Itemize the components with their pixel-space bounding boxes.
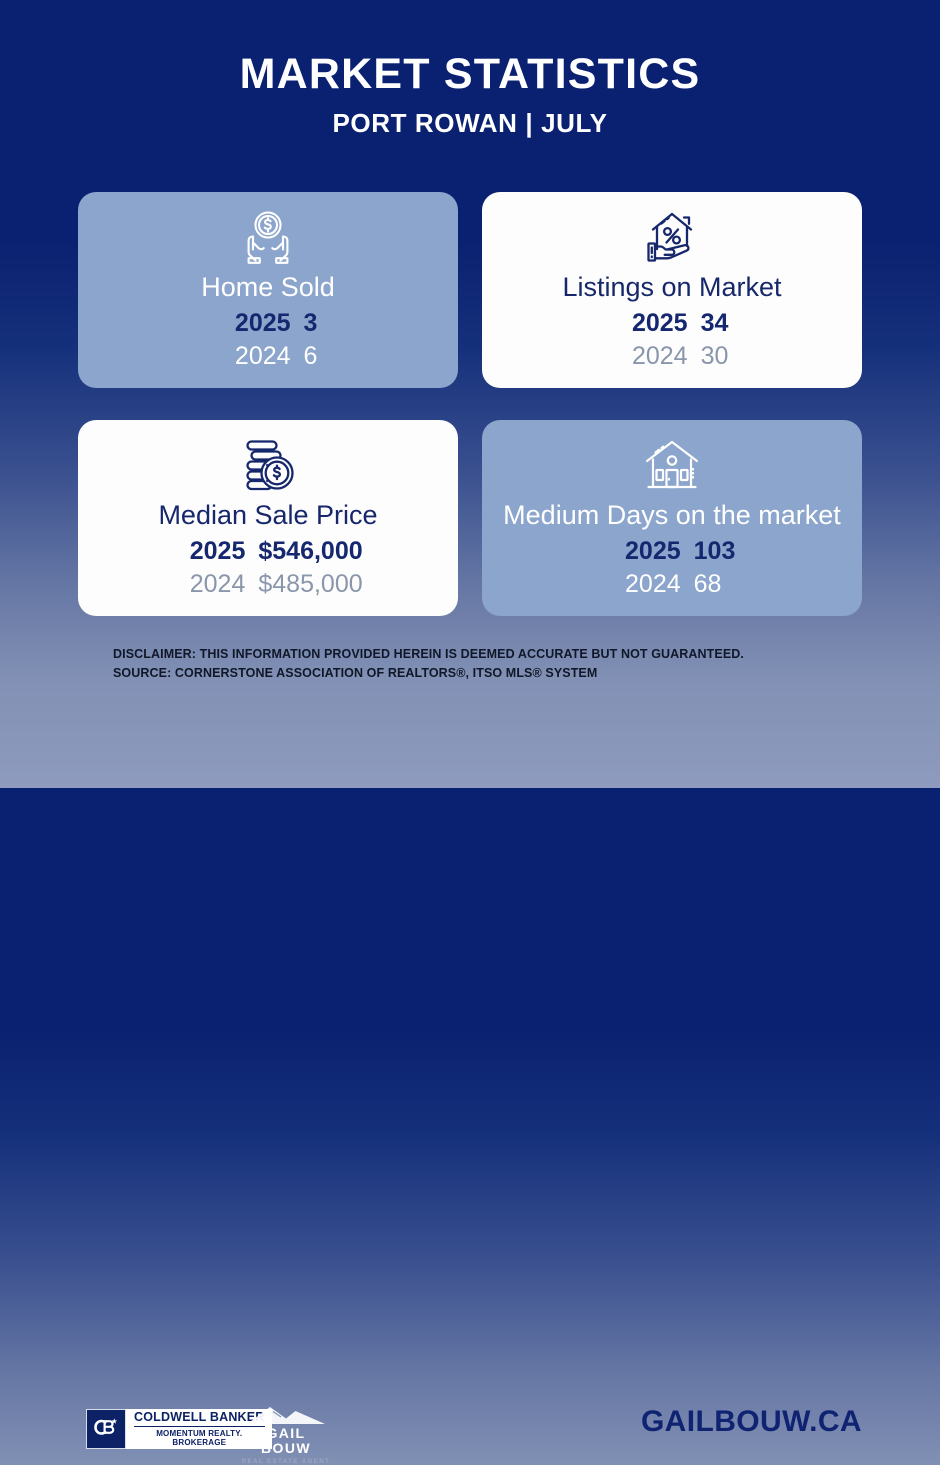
stat-card-title: Listings on Market: [562, 272, 781, 303]
stat-values: 2025 34 2024 30: [616, 307, 729, 373]
stat-year-previous: 2024: [219, 340, 291, 373]
stat-values: 2025 103 2024 68: [609, 535, 736, 601]
brokerage-subline: MOMENTUM REALTY. BROKERAGE: [156, 1429, 242, 1448]
mountain-icon: [240, 1405, 332, 1425]
stat-year-current: 2025: [616, 307, 688, 340]
coin-stack-icon: [239, 434, 297, 496]
page-title: MARKET STATISTICS: [0, 52, 940, 97]
stat-row-current: 2025 34: [616, 307, 729, 340]
disclaimer: DISCLAIMER: THIS INFORMATION PROVIDED HE…: [113, 645, 873, 684]
stat-year-current: 2025: [173, 535, 245, 568]
agent-name: GAIL BOUW: [240, 1426, 332, 1457]
house-percent-hand-icon: [642, 206, 702, 268]
stat-value-previous: 68: [694, 568, 722, 601]
stat-row-previous: 2024 $485,000: [173, 568, 362, 601]
website-url[interactable]: GAILBOUW.CA: [641, 1405, 862, 1439]
stat-card-title: Home Sold: [201, 272, 335, 303]
stat-values: 2025 $546,000 2024 $485,000: [173, 535, 362, 601]
stat-year-current: 2025: [609, 535, 681, 568]
stat-card-title: Median Sale Price: [158, 500, 377, 531]
statistics-grid: Home Sold 2025 3 2024 6: [78, 192, 862, 616]
agent-tagline: REAL ESTATE AGENT: [240, 1459, 332, 1465]
stat-row-previous: 2024 68: [609, 568, 736, 601]
stat-row-current: 2025 $546,000: [173, 535, 362, 568]
stat-value-current: 3: [304, 307, 318, 340]
stat-year-current: 2025: [219, 307, 291, 340]
page-subtitle: PORT ROWAN | JULY: [0, 108, 940, 139]
disclaimer-line-2: SOURCE: CORNERSTONE ASSOCIATION OF REALT…: [113, 664, 873, 683]
house-icon: [642, 434, 702, 496]
stat-value-current: 34: [701, 307, 729, 340]
stat-row-previous: 2024 30: [616, 340, 729, 373]
hands-holding-coin-icon: [237, 206, 299, 268]
brokerage-subline-1: MOMENTUM REALTY.: [156, 1429, 242, 1438]
cb-monogram-icon: [86, 1409, 126, 1449]
stat-card-title: Medium Days on the market: [503, 500, 841, 531]
gail-bouw-logo: GAIL BOUW REAL ESTATE AGENT: [240, 1405, 332, 1465]
stat-year-previous: 2024: [609, 568, 681, 601]
stat-value-previous: 30: [701, 340, 729, 373]
stat-card-median-sale-price: Median Sale Price 2025 $546,000 2024 $48…: [78, 420, 458, 616]
stat-year-previous: 2024: [173, 568, 245, 601]
stat-card-home-sold: Home Sold 2025 3 2024 6: [78, 192, 458, 388]
stat-values: 2025 3 2024 6: [219, 307, 318, 373]
stat-value-current: $546,000: [258, 535, 362, 568]
header: MARKET STATISTICS PORT ROWAN | JULY: [0, 0, 940, 139]
stat-row-current: 2025 3: [219, 307, 318, 340]
disclaimer-line-1: DISCLAIMER: THIS INFORMATION PROVIDED HE…: [113, 645, 873, 664]
brokerage-subline-2: BROKERAGE: [156, 1438, 242, 1447]
stat-card-medium-days-on-market: Medium Days on the market 2025 103 2024 …: [482, 420, 862, 616]
stat-row-previous: 2024 6: [219, 340, 318, 373]
footer: COLDWELL BANKER MOMENTUM REALTY. BROKERA…: [0, 700, 940, 760]
stat-value-previous: $485,000: [258, 568, 362, 601]
stat-row-current: 2025 103: [609, 535, 736, 568]
stat-card-listings-on-market: Listings on Market 2025 34 2024 30: [482, 192, 862, 388]
stat-value-current: 103: [694, 535, 736, 568]
stat-year-previous: 2024: [616, 340, 688, 373]
stat-value-previous: 6: [304, 340, 318, 373]
